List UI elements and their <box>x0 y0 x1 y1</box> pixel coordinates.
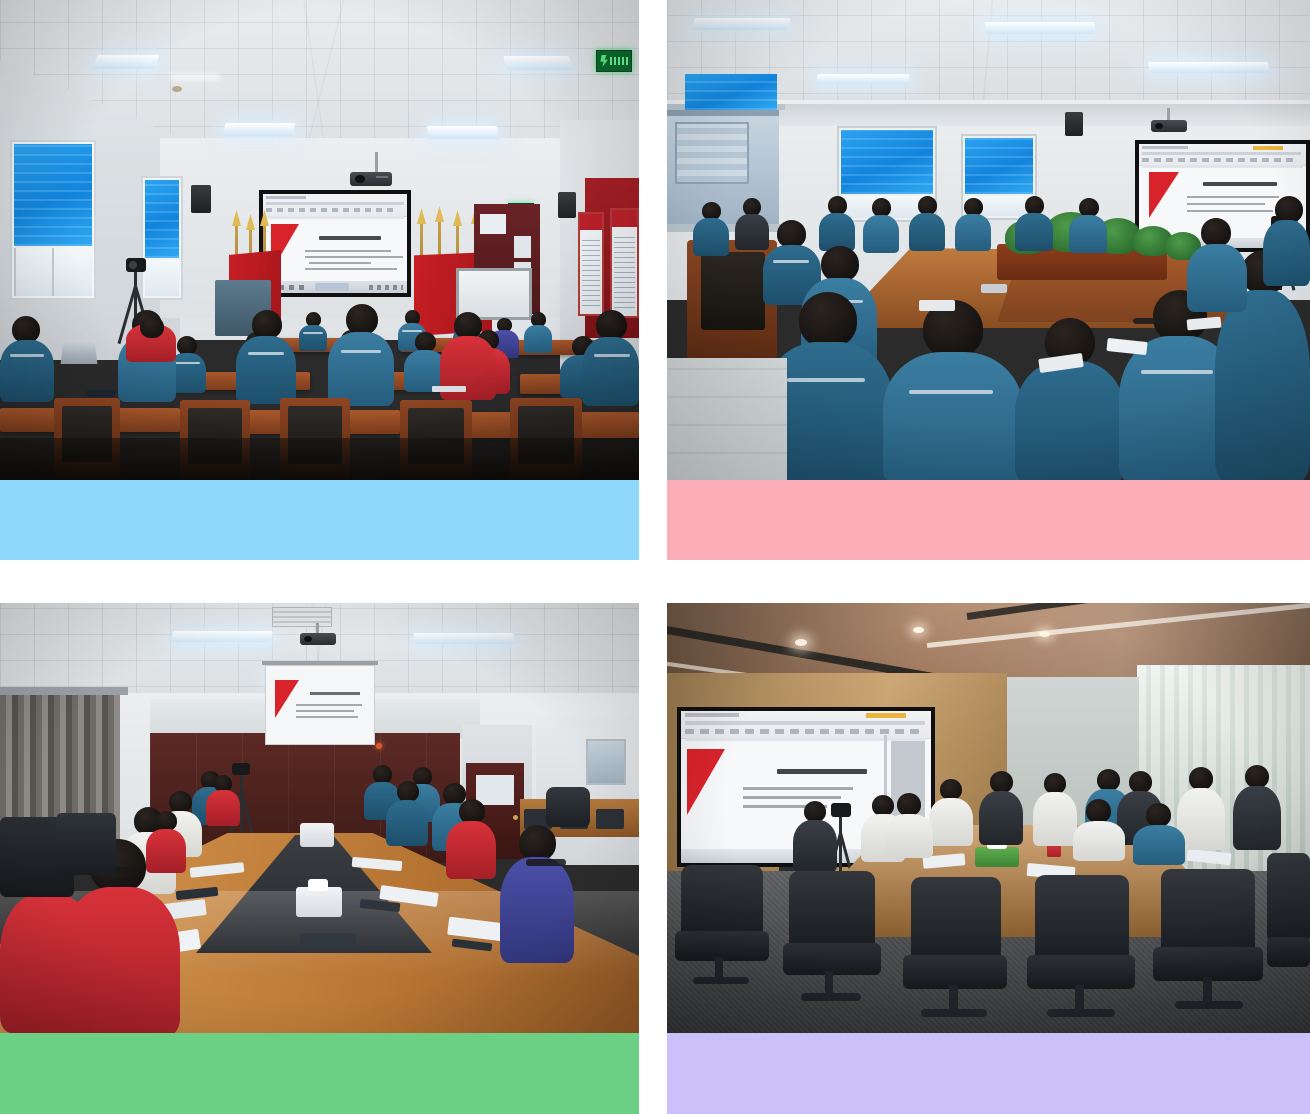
photo-conference-room-meeting <box>667 0 1310 480</box>
photo-meeting-room-long-table <box>0 603 639 1033</box>
caption-bar-blue <box>0 480 639 560</box>
photo-card-top-right[interactable] <box>667 0 1310 560</box>
photo-classroom-lecture-hall <box>0 0 639 480</box>
caption-bar-green <box>0 1033 639 1114</box>
photo-modern-boardroom <box>667 603 1310 1033</box>
photo-card-bottom-left[interactable] <box>0 603 639 1114</box>
caption-bar-purple <box>667 1033 1310 1114</box>
photo-card-bottom-right[interactable] <box>667 603 1310 1114</box>
photo-card-top-left[interactable] <box>0 0 639 560</box>
photo-collage-grid <box>0 0 1310 1114</box>
caption-bar-pink <box>667 480 1310 560</box>
